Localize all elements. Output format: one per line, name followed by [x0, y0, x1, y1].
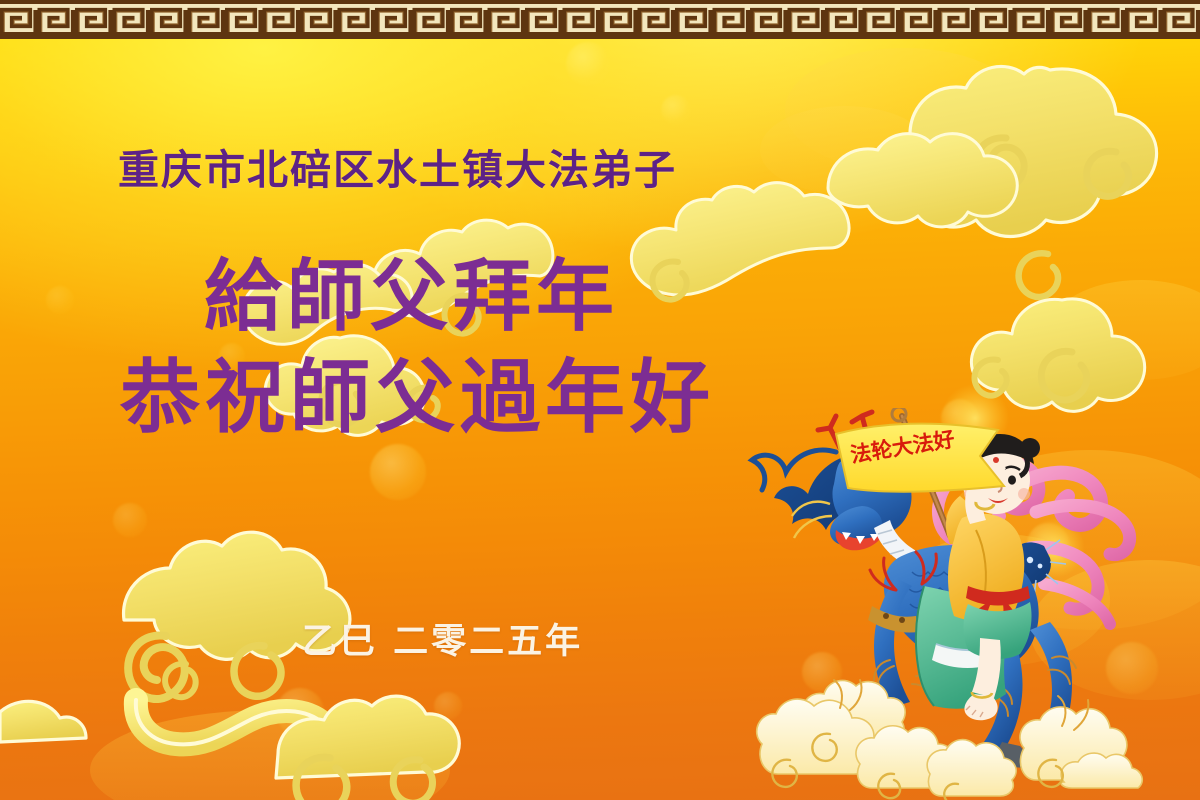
- bokeh-light: [113, 503, 147, 537]
- greeting-title-block: 給師父拜年 恭祝師父過年好: [120, 258, 715, 438]
- meander-pattern: [0, 0, 1200, 36]
- bokeh-light: [661, 95, 691, 125]
- auspicious-cloud-bottom-left: [0, 532, 459, 800]
- greeting-line-2: 恭祝師父過年好: [120, 358, 715, 438]
- bokeh-light: [370, 444, 426, 500]
- bokeh-light: [46, 286, 74, 314]
- sender-line: 重庆市北碚区水土镇大法弟子: [118, 136, 677, 196]
- bokeh-light: [566, 42, 610, 86]
- date-line: 乙巳 二零二五年: [302, 613, 583, 664]
- auspicious-cloud-top-right: [870, 66, 1157, 236]
- greeting-line-1: 給師父拜年: [204, 258, 715, 336]
- bokeh-light: [434, 692, 462, 720]
- greek-key-meander-border: [0, 0, 1200, 39]
- greeting-card: 重庆市北碚区水土镇大法弟子 給師父拜年 恭祝師父過年好 乙巳 二零二五年: [0, 0, 1200, 800]
- bokeh-light: [276, 688, 324, 736]
- auspicious-cloud-mid-right: [971, 299, 1144, 412]
